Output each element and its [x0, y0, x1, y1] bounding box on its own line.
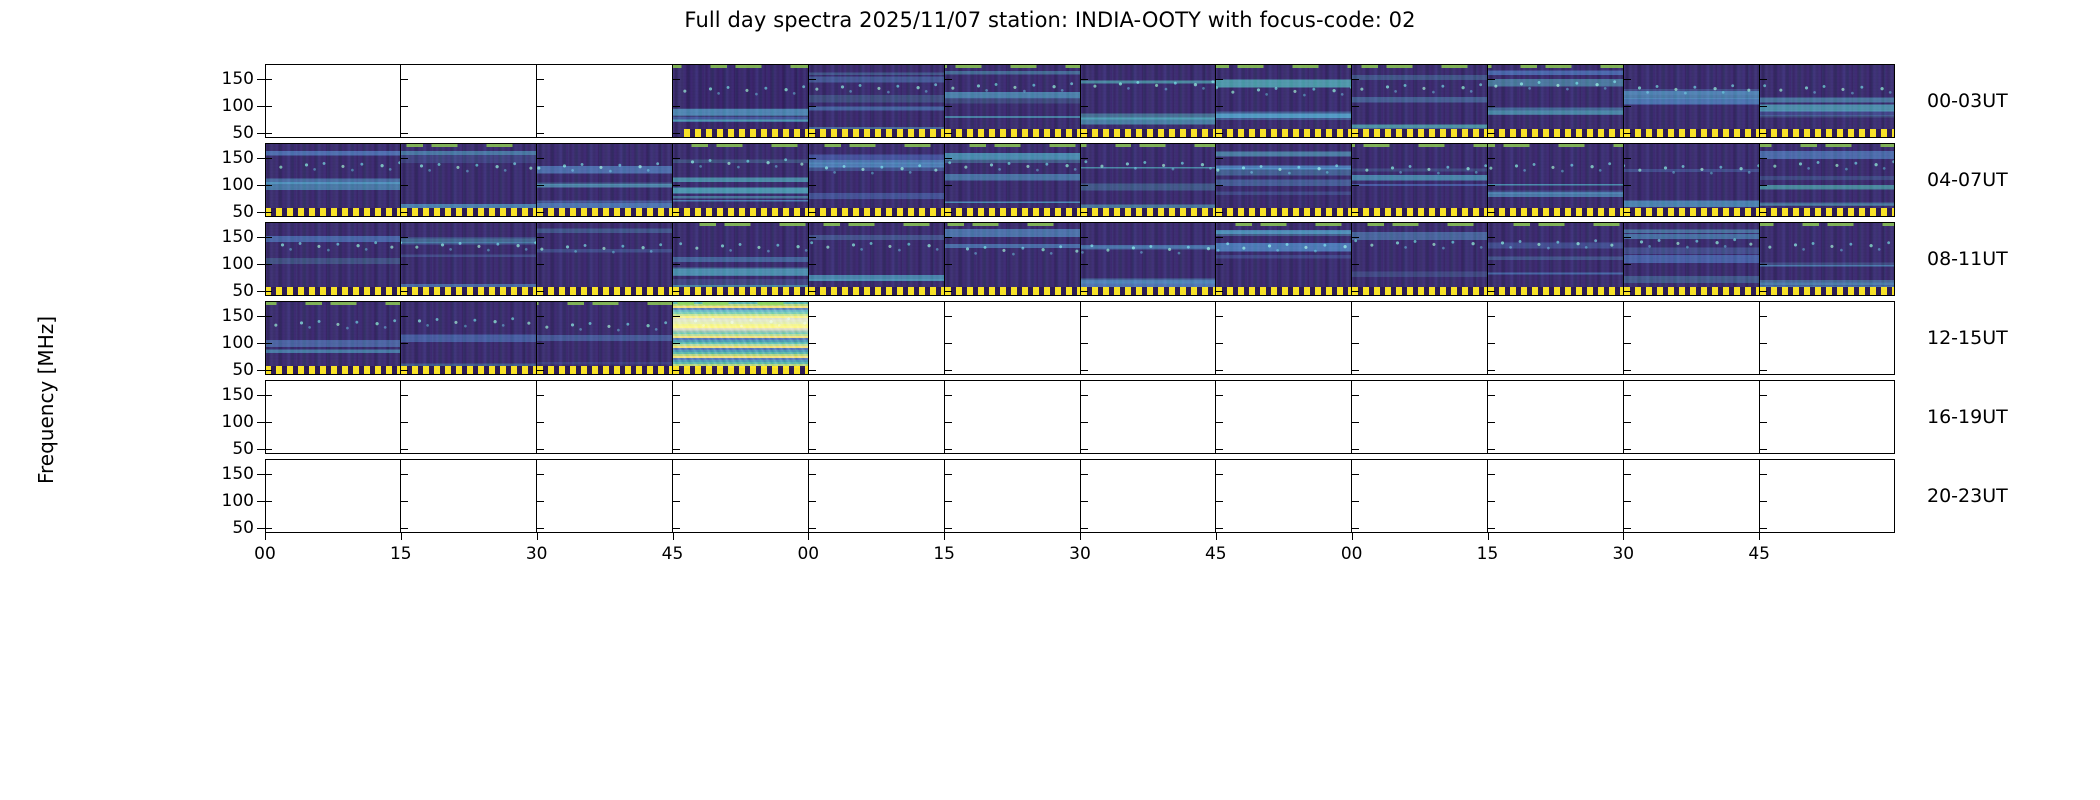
x-axis-tick — [1080, 533, 1081, 540]
empty-panel — [1624, 301, 1760, 375]
panel-y-tick — [1352, 291, 1359, 292]
panel-y-tick — [1760, 79, 1767, 80]
scanline-texture — [945, 64, 1080, 138]
empty-panel — [1488, 301, 1624, 375]
spectrogram-panel — [673, 222, 809, 296]
y-axis-tick-label: 100 — [194, 333, 254, 353]
panel-y-tick — [1488, 528, 1495, 529]
y-axis-tick — [257, 291, 265, 292]
top-edge-streak — [1488, 222, 1623, 226]
spectrogram-image — [1352, 64, 1487, 138]
panel-y-tick — [809, 422, 816, 423]
panel-y-tick — [1760, 158, 1767, 159]
panel-y-tick — [265, 343, 272, 344]
scanline-texture — [673, 143, 808, 217]
panel-y-tick — [673, 264, 680, 265]
scanline-texture — [1081, 143, 1216, 217]
x-axis-tick-label: 15 — [390, 544, 412, 564]
panel-y-tick — [401, 237, 408, 238]
spectrogram-image — [1488, 222, 1623, 296]
panel-y-tick — [1081, 291, 1088, 292]
panel-y-tick — [945, 395, 952, 396]
panel-y-tick — [1352, 316, 1359, 317]
panel-y-tick — [1760, 395, 1767, 396]
y-axis-tick — [257, 449, 265, 450]
panel-y-tick — [1624, 370, 1631, 371]
spectrogram-panel — [1352, 143, 1488, 217]
spectrogram-panel — [265, 143, 401, 217]
bottom-saturation-band — [401, 366, 536, 375]
spectrogram-panel — [809, 64, 945, 138]
spectrogram-image — [1216, 64, 1351, 138]
bottom-saturation-band — [265, 287, 400, 296]
y-axis-tick-label: 100 — [194, 491, 254, 511]
panel-y-tick — [1216, 237, 1223, 238]
bottom-saturation-band — [1216, 287, 1351, 296]
panel-y-tick — [1081, 528, 1088, 529]
scanline-texture — [401, 222, 536, 296]
panel-y-tick — [1352, 422, 1359, 423]
scanline-texture — [1488, 143, 1623, 217]
y-axis-tick-label: 150 — [194, 385, 254, 405]
panel-y-tick — [537, 370, 544, 371]
panel-y-tick — [1624, 212, 1631, 213]
panel-y-tick — [1760, 422, 1767, 423]
spectrogram-panel — [1081, 143, 1217, 217]
panel-y-tick — [1760, 185, 1767, 186]
empty-panel — [1488, 380, 1624, 454]
bottom-saturation-band — [945, 287, 1080, 296]
row-time-label: 08-11UT — [1927, 248, 2008, 270]
y-axis-tick — [257, 316, 265, 317]
spectrogram-panel — [1760, 64, 1895, 138]
panel-y-tick — [945, 291, 952, 292]
bottom-saturation-band — [537, 287, 672, 296]
panel-y-tick — [537, 158, 544, 159]
moire-texture — [673, 301, 808, 375]
bottom-saturation-band — [1488, 208, 1623, 217]
spectrogram-row-20-23ut: 1501005020-23UT001530450015304500153045 — [265, 459, 1895, 533]
y-axis-tick — [257, 185, 265, 186]
panel-y-tick — [1624, 474, 1631, 475]
panel-y-tick — [1624, 501, 1631, 502]
scanline-texture — [1081, 222, 1216, 296]
spectrogram-image — [673, 301, 808, 375]
panel-y-tick — [537, 185, 544, 186]
spectrogram-image — [673, 64, 808, 138]
panel-y-tick — [673, 501, 680, 502]
spectrogram-image — [537, 222, 672, 296]
bottom-saturation-band — [945, 208, 1080, 217]
scanline-texture — [945, 222, 1080, 296]
panel-y-tick — [673, 291, 680, 292]
spectrogram-panel — [1624, 143, 1760, 217]
panel-y-tick — [1488, 474, 1495, 475]
y-axis-tick — [257, 422, 265, 423]
spectrogram-panel — [401, 222, 537, 296]
spectrogram-panel — [809, 143, 945, 217]
bottom-saturation-band — [1216, 208, 1351, 217]
y-axis-tick-label: 150 — [194, 69, 254, 89]
panel-y-tick — [1624, 106, 1631, 107]
spectrogram-image — [1760, 143, 1895, 217]
scanline-texture — [1352, 222, 1487, 296]
y-axis-label: Frequency [MHz] — [34, 250, 58, 550]
empty-panel — [1352, 301, 1488, 375]
spectrogram-image — [537, 301, 672, 375]
bottom-saturation-band — [537, 208, 672, 217]
panel-y-tick — [537, 237, 544, 238]
panel-y-tick — [1081, 395, 1088, 396]
panel-y-tick — [1760, 343, 1767, 344]
empty-panel — [945, 301, 1081, 375]
panel-y-tick — [1216, 212, 1223, 213]
scanline-texture — [1624, 143, 1759, 217]
y-axis-tick-label: 50 — [194, 281, 254, 301]
panel-y-tick — [537, 343, 544, 344]
spectrogram-panel — [537, 143, 673, 217]
y-axis-tick — [257, 528, 265, 529]
scanline-texture — [401, 143, 536, 217]
panel-y-tick — [809, 449, 816, 450]
panel-y-tick — [1352, 395, 1359, 396]
bottom-saturation-band — [1352, 287, 1487, 296]
panel-y-tick — [401, 158, 408, 159]
scanline-texture — [1488, 64, 1623, 138]
empty-panel — [401, 380, 537, 454]
figure-title: Full day spectra 2025/11/07 station: IND… — [0, 8, 2100, 32]
bottom-saturation-band — [673, 208, 808, 217]
panel-y-tick — [401, 264, 408, 265]
panel-y-tick — [1081, 343, 1088, 344]
row-panels — [265, 143, 1895, 217]
panel-y-tick — [1216, 395, 1223, 396]
scanline-texture — [265, 143, 400, 217]
bottom-saturation-band — [684, 129, 808, 138]
panel-y-tick — [673, 395, 680, 396]
spectrogram-image — [809, 143, 944, 217]
panel-y-tick — [1760, 316, 1767, 317]
empty-panel — [1624, 380, 1760, 454]
panel-y-tick — [1352, 79, 1359, 80]
panel-y-tick — [401, 395, 408, 396]
y-axis-tick-label: 100 — [194, 175, 254, 195]
panel-y-tick — [1760, 212, 1767, 213]
panel-y-tick — [945, 212, 952, 213]
empty-panel — [945, 380, 1081, 454]
scanline-texture — [537, 222, 672, 296]
spectrogram-panel — [1081, 222, 1217, 296]
panel-y-tick — [1760, 106, 1767, 107]
y-axis-tick-label: 50 — [194, 518, 254, 538]
scanline-texture — [1216, 222, 1351, 296]
x-axis-tick — [673, 533, 674, 540]
top-edge-streak — [1352, 222, 1487, 226]
panel-y-tick — [1760, 528, 1767, 529]
spectrogram-panel — [1352, 64, 1488, 138]
panel-y-tick — [1488, 370, 1495, 371]
empty-panel — [401, 64, 537, 138]
panel-y-tick — [945, 474, 952, 475]
spectrogram-panel — [1216, 143, 1352, 217]
panel-y-tick — [265, 291, 272, 292]
panel-y-tick — [1081, 185, 1088, 186]
panel-y-tick — [401, 528, 408, 529]
bottom-saturation-band — [1081, 208, 1216, 217]
bottom-saturation-band — [809, 208, 944, 217]
panel-y-tick — [1488, 291, 1495, 292]
panel-y-tick — [265, 106, 272, 107]
panel-y-tick — [537, 79, 544, 80]
bottom-saturation-band — [809, 287, 944, 296]
panel-y-tick — [265, 316, 272, 317]
panel-y-tick — [537, 395, 544, 396]
y-axis-tick — [257, 158, 265, 159]
panel-y-tick — [1488, 264, 1495, 265]
panel-y-tick — [809, 79, 816, 80]
empty-panel — [1081, 380, 1217, 454]
panel-y-tick — [1488, 237, 1495, 238]
bottom-saturation-band — [1624, 129, 1759, 138]
top-edge-streak — [1216, 222, 1351, 226]
spectrogram-image — [809, 64, 944, 138]
y-axis-tick-label: 150 — [194, 306, 254, 326]
panel-y-tick — [1216, 316, 1223, 317]
spectrogram-panel — [401, 301, 537, 375]
spectrogram-panel — [1488, 64, 1624, 138]
scanline-texture — [945, 143, 1080, 217]
panel-y-tick — [401, 185, 408, 186]
scanline-texture — [1760, 222, 1895, 296]
panel-y-tick — [1488, 395, 1495, 396]
top-edge-streak — [1488, 143, 1623, 147]
panel-y-tick — [1352, 370, 1359, 371]
panel-y-tick — [1081, 212, 1088, 213]
spectrogram-image — [401, 301, 536, 375]
panel-y-tick — [1081, 316, 1088, 317]
spectrogram-panel — [1488, 143, 1624, 217]
panel-y-tick — [265, 528, 272, 529]
panel-y-tick — [1352, 133, 1359, 134]
row-panels — [265, 301, 1895, 375]
panel-y-tick — [809, 343, 816, 344]
panel-y-tick — [1216, 501, 1223, 502]
scanline-texture — [537, 143, 672, 217]
x-axis-tick — [1488, 533, 1489, 540]
panel-y-tick — [1760, 237, 1767, 238]
x-axis-tick-label: 30 — [1612, 544, 1634, 564]
panel-y-tick — [1624, 237, 1631, 238]
panel-y-tick — [1488, 212, 1495, 213]
spectrogram-image — [401, 143, 536, 217]
panel-y-tick — [673, 158, 680, 159]
y-axis-tick — [257, 212, 265, 213]
panel-y-tick — [1081, 264, 1088, 265]
panel-y-tick — [1624, 422, 1631, 423]
panel-y-tick — [945, 158, 952, 159]
spectrogram-panel — [1216, 222, 1352, 296]
panel-y-tick — [401, 291, 408, 292]
empty-panel — [809, 380, 945, 454]
y-axis-tick — [257, 343, 265, 344]
x-axis-tick-label: 15 — [1477, 544, 1499, 564]
spectrogram-image — [1760, 222, 1895, 296]
panel-y-tick — [1624, 528, 1631, 529]
panel-y-tick — [673, 449, 680, 450]
panel-y-tick — [809, 501, 816, 502]
panel-y-tick — [537, 133, 544, 134]
empty-panel — [1488, 459, 1624, 533]
panel-y-tick — [809, 291, 816, 292]
x-axis-tick-label: 00 — [254, 544, 276, 564]
y-axis-tick-label: 50 — [194, 360, 254, 380]
panel-y-tick — [1624, 158, 1631, 159]
spectrogram-panel — [673, 301, 809, 375]
empty-panel — [1760, 301, 1895, 375]
bottom-saturation-band — [673, 287, 808, 296]
top-edge-streak — [1216, 64, 1351, 68]
panel-y-tick — [401, 106, 408, 107]
x-axis-tick — [1623, 533, 1624, 540]
x-axis-tick — [401, 533, 402, 540]
panel-y-tick — [809, 474, 816, 475]
panel-y-tick — [537, 106, 544, 107]
spectrogram-row-12-15ut: 1501005012-15UT — [265, 301, 1895, 375]
x-axis-tick — [537, 533, 538, 540]
panel-y-tick — [1624, 79, 1631, 80]
empty-panel — [1352, 380, 1488, 454]
top-edge-streak — [945, 64, 1080, 68]
y-axis-tick — [257, 264, 265, 265]
top-edge-streak — [265, 301, 400, 305]
panel-y-tick — [1081, 474, 1088, 475]
panel-y-tick — [1352, 449, 1359, 450]
scanline-texture — [1216, 143, 1351, 217]
panel-y-tick — [1488, 422, 1495, 423]
panel-y-tick — [1216, 264, 1223, 265]
panel-y-tick — [1216, 133, 1223, 134]
x-axis-tick-label: 00 — [1341, 544, 1363, 564]
panel-y-tick — [1081, 237, 1088, 238]
top-edge-streak — [537, 301, 672, 305]
bottom-saturation-band — [1081, 287, 1216, 296]
panel-y-tick — [809, 528, 816, 529]
panel-y-tick — [809, 212, 816, 213]
panel-y-tick — [945, 528, 952, 529]
bottom-saturation-band — [945, 129, 1080, 138]
spectrogram-panel — [1624, 222, 1760, 296]
top-edge-streak — [1081, 143, 1216, 147]
bottom-saturation-band — [1488, 129, 1623, 138]
panel-y-tick — [809, 264, 816, 265]
bottom-saturation-band — [401, 208, 536, 217]
y-axis-tick-label: 150 — [194, 227, 254, 247]
spectrogram-image — [809, 222, 944, 296]
scanline-texture — [1352, 64, 1487, 138]
panel-y-tick — [537, 422, 544, 423]
empty-panel — [1081, 459, 1217, 533]
spectrogram-panel — [537, 222, 673, 296]
spectrogram-panel — [265, 301, 401, 375]
spectrogram-panel — [537, 301, 673, 375]
panel-y-tick — [945, 79, 952, 80]
panel-y-tick — [1624, 133, 1631, 134]
panel-y-tick — [1352, 343, 1359, 344]
panel-y-tick — [1624, 291, 1631, 292]
x-axis-tick — [1352, 533, 1353, 540]
panel-y-tick — [1760, 264, 1767, 265]
spectrogram-image — [1488, 143, 1623, 217]
panel-y-tick — [1624, 449, 1631, 450]
top-edge-streak — [673, 301, 808, 305]
empty-panel — [537, 380, 673, 454]
empty-panel — [1760, 380, 1895, 454]
spectrogram-panel — [673, 64, 809, 138]
x-axis-tick-label: 45 — [1205, 544, 1227, 564]
panel-y-tick — [1488, 449, 1495, 450]
spectrogram-image — [1352, 222, 1487, 296]
panel-y-tick — [265, 212, 272, 213]
bottom-saturation-band — [1760, 129, 1895, 138]
empty-panel — [1760, 459, 1895, 533]
empty-panel — [1216, 301, 1352, 375]
panel-y-tick — [673, 133, 680, 134]
bottom-saturation-band — [1216, 129, 1351, 138]
spectrogram-panel — [401, 143, 537, 217]
spectrogram-figure: Full day spectra 2025/11/07 station: IND… — [0, 0, 2100, 800]
panel-y-tick — [1352, 528, 1359, 529]
panel-y-tick — [265, 79, 272, 80]
panel-y-tick — [809, 370, 816, 371]
row-time-label: 20-23UT — [1927, 485, 2008, 507]
spectrogram-image — [1216, 222, 1351, 296]
panel-y-tick — [673, 343, 680, 344]
y-axis-tick — [257, 395, 265, 396]
panel-y-tick — [1352, 158, 1359, 159]
row-time-label: 04-07UT — [1927, 169, 2008, 191]
spectrogram-image — [537, 143, 672, 217]
panel-y-tick — [1081, 449, 1088, 450]
top-edge-streak — [809, 222, 944, 226]
x-axis-tick-label: 30 — [1069, 544, 1091, 564]
panel-y-tick — [1488, 343, 1495, 344]
y-axis-tick — [257, 133, 265, 134]
spectrogram-image — [1624, 64, 1759, 138]
panel-y-tick — [1760, 133, 1767, 134]
panel-y-tick — [1760, 291, 1767, 292]
scanline-texture — [809, 143, 944, 217]
panel-y-tick — [673, 79, 680, 80]
spectrogram-panel — [1488, 222, 1624, 296]
panel-y-tick — [1624, 316, 1631, 317]
scanline-texture — [1081, 64, 1216, 138]
x-axis-tick — [1216, 533, 1217, 540]
empty-panel — [537, 459, 673, 533]
panel-y-tick — [1488, 133, 1495, 134]
top-edge-streak — [673, 64, 808, 68]
x-axis-tick — [808, 533, 809, 540]
empty-panel — [673, 380, 809, 454]
spectrogram-image — [1081, 222, 1216, 296]
scanline-texture — [673, 64, 808, 138]
panel-y-tick — [673, 212, 680, 213]
empty-panel — [1081, 301, 1217, 375]
spectrogram-image — [1081, 143, 1216, 217]
row-time-label: 16-19UT — [1927, 406, 2008, 428]
panel-y-tick — [945, 422, 952, 423]
y-axis-tick — [257, 237, 265, 238]
y-axis-tick-label: 100 — [194, 254, 254, 274]
